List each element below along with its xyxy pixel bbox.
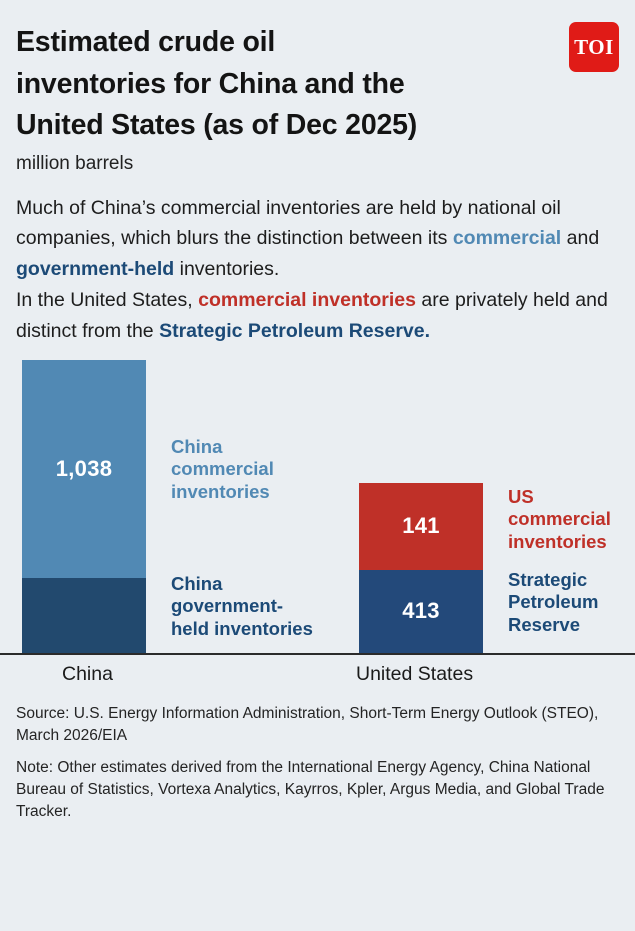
- description-text-4: In the United States,: [16, 289, 198, 311]
- infographic-page: Estimated crude oil inventories for Chin…: [0, 0, 635, 931]
- bar-value-china-commercial: 1,038: [56, 458, 113, 480]
- toi-logo-text: TOI: [574, 37, 614, 58]
- footer: Source: U.S. Energy Information Administ…: [16, 703, 619, 823]
- description-text-2: and: [561, 227, 599, 249]
- header: Estimated crude oil inventories for Chin…: [16, 0, 619, 177]
- description-paragraph-china: Much of China’s commercial inventories a…: [16, 193, 616, 285]
- bar-segment-china-government[interactable]: [22, 578, 146, 653]
- series-label-china-government: China government- held inventories: [171, 573, 313, 641]
- category-label-china: China: [62, 663, 113, 686]
- description-highlight-us-commercial: commercial inventories: [198, 289, 416, 311]
- stacked-bar-chart: 1,038 141 413 China commercial inventori…: [16, 361, 619, 691]
- bar-value-strategic-petroleum-reserve: 413: [402, 600, 440, 622]
- page-subtitle: million barrels: [16, 152, 619, 177]
- description-highlight-spr: Strategic Petroleum Reserve.: [159, 320, 430, 342]
- bar-group-united-states: 141 413: [359, 483, 483, 653]
- category-label-united-states: United States: [356, 663, 473, 686]
- description-text-3: inventories.: [174, 258, 279, 280]
- description-highlight-commercial: commercial: [453, 227, 561, 249]
- page-title: Estimated crude oil inventories for Chin…: [16, 22, 556, 147]
- series-label-us-commercial: US commercial inventories: [508, 486, 611, 554]
- bar-segment-us-commercial[interactable]: 141: [359, 483, 483, 570]
- bar-group-china: 1,038: [22, 360, 146, 653]
- description-block: Much of China’s commercial inventories a…: [16, 193, 616, 347]
- toi-logo: TOI: [569, 22, 619, 72]
- source-text: Source: U.S. Energy Information Administ…: [16, 703, 619, 747]
- x-axis-line: [0, 653, 635, 655]
- series-label-china-commercial: China commercial inventories: [171, 436, 274, 504]
- note-text: Note: Other estimates derived from the I…: [16, 757, 619, 823]
- bar-value-us-commercial: 141: [402, 515, 440, 537]
- bar-segment-china-commercial[interactable]: 1,038: [22, 360, 146, 578]
- series-label-strategic-petroleum-reserve: Strategic Petroleum Reserve: [508, 569, 598, 637]
- description-highlight-government-held: government-held: [16, 258, 174, 280]
- description-paragraph-us: In the United States, commercial invento…: [16, 285, 616, 347]
- bar-segment-strategic-petroleum-reserve[interactable]: 413: [359, 570, 483, 653]
